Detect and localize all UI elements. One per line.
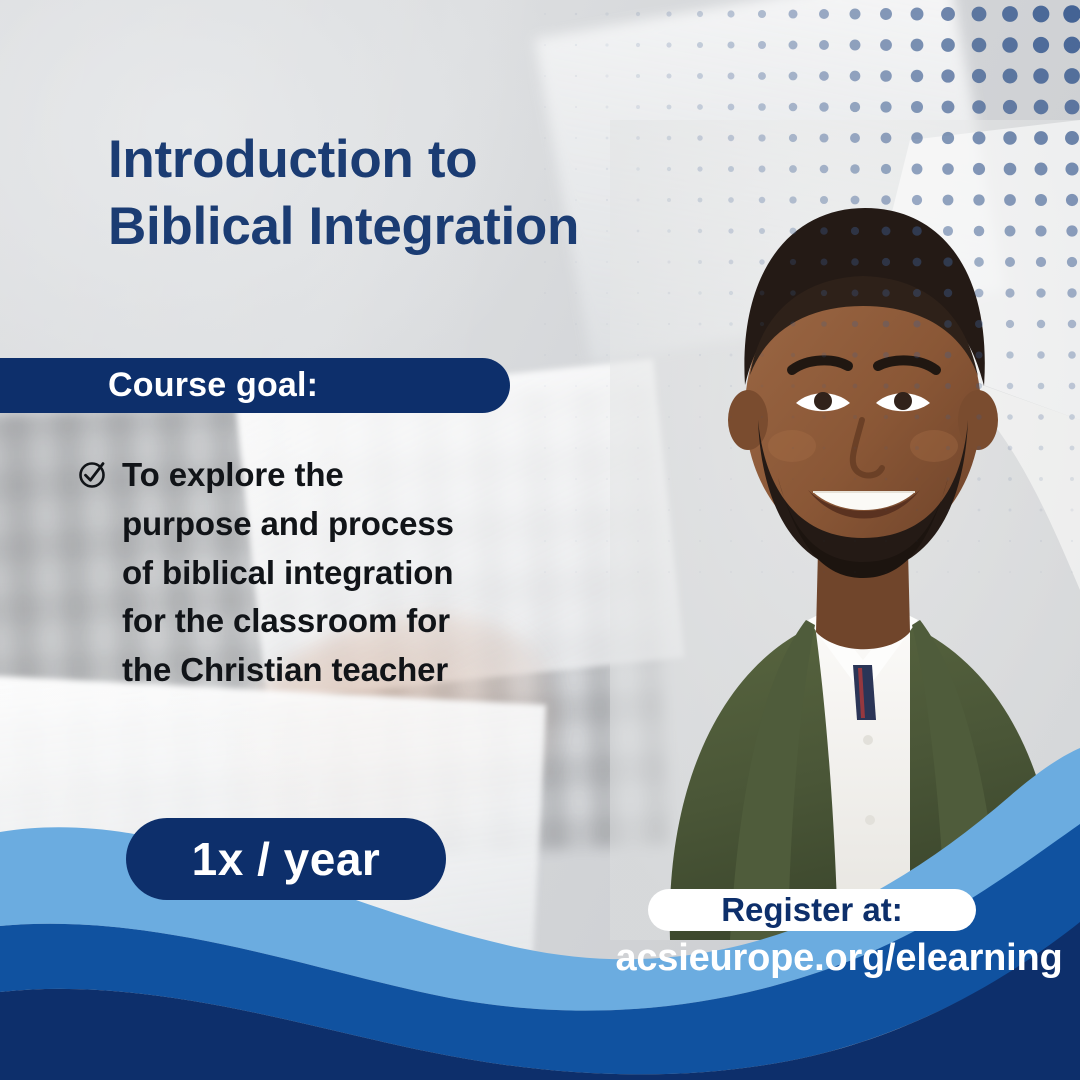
frequency-label: 1x / year	[192, 832, 381, 886]
page-title: Introduction to Biblical Integration	[108, 127, 668, 261]
register-pill: Register at:	[648, 889, 976, 931]
course-goal-bullet: To explore the purpose and process of bi…	[78, 451, 548, 695]
frequency-pill: 1x / year	[126, 818, 446, 900]
course-goal-label: Course goal:	[108, 366, 318, 405]
course-goal-badge: Course goal:	[0, 358, 510, 413]
register-label: Register at:	[721, 891, 903, 929]
course-promo-poster: Introduction to Biblical Integration Cou…	[0, 0, 1080, 1080]
dot-grid-icon	[540, 0, 1080, 600]
circled-check-icon	[78, 459, 108, 494]
register-url[interactable]: acsieurope.org/elearning	[600, 937, 1078, 980]
course-goal-text: To explore the purpose and process of bi…	[122, 451, 454, 695]
